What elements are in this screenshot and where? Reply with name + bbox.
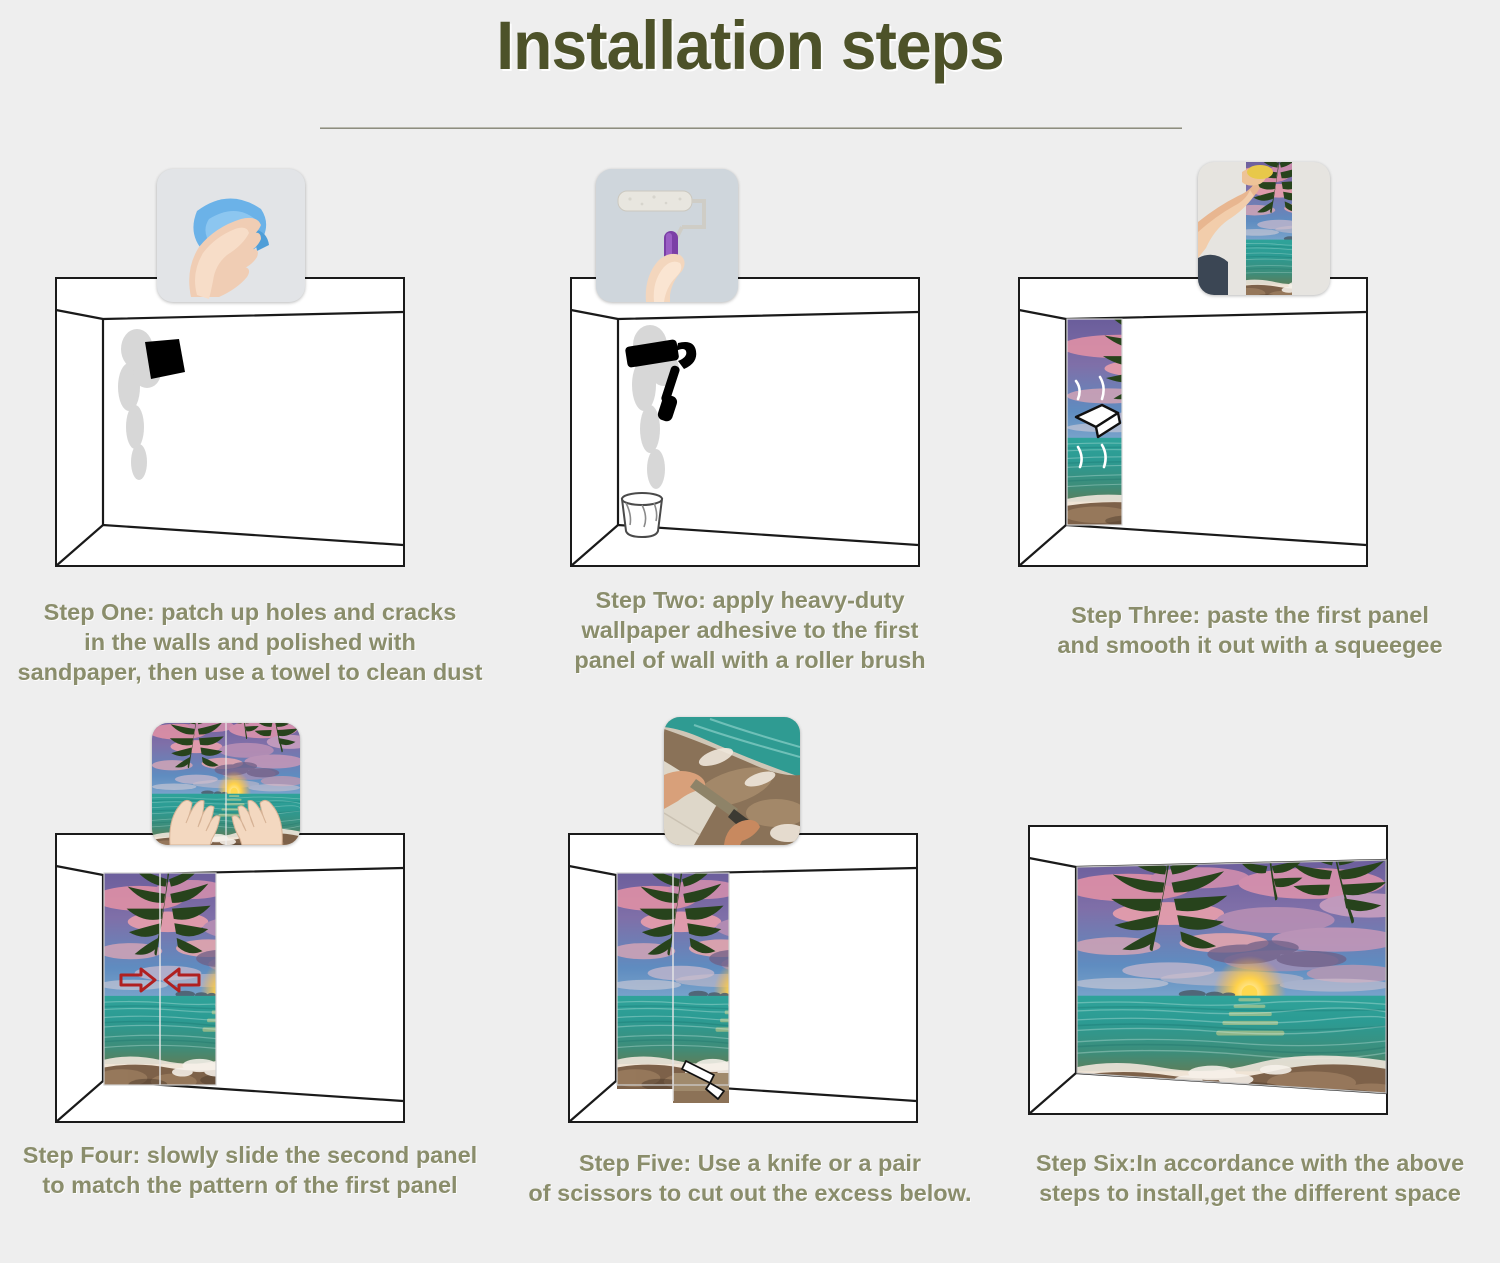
inset-photo-step-five <box>664 717 800 845</box>
step-six-caption: Step Six:In accordance with the above st… <box>996 1148 1500 1208</box>
step-four-caption: Step Four: slowly slide the second panel… <box>0 1140 500 1200</box>
inset-photo-step-two <box>596 169 738 302</box>
step-three-caption: Step Three: paste the first panel and sm… <box>1000 600 1500 660</box>
room-diagram-step-six <box>1028 825 1388 1125</box>
step-six-cell: Step Six:In accordance with the above st… <box>1000 705 1500 1260</box>
step-two-caption: Step Two: apply heavy-duty wallpaper adh… <box>500 585 1000 675</box>
page-title: Installation steps <box>53 8 1448 84</box>
inset-photo-step-one <box>157 169 305 302</box>
paint-bucket-icon <box>622 493 662 537</box>
inset-photo-step-three <box>1198 162 1330 295</box>
title-divider <box>320 127 1182 129</box>
room-diagram-step-four <box>55 833 405 1123</box>
step-five-cell: Step Five: Use a knife or a pair of scis… <box>500 705 1000 1260</box>
room-diagram-step-five <box>568 833 918 1133</box>
steps-grid: Step One: patch up holes and cracks in t… <box>0 150 1500 1260</box>
step-one-cell: Step One: patch up holes and cracks in t… <box>0 150 500 705</box>
room-diagram-step-one <box>55 277 405 567</box>
step-five-caption: Step Five: Use a knife or a pair of scis… <box>500 1148 1000 1208</box>
step-four-cell: Step Four: slowly slide the second panel… <box>0 705 500 1260</box>
steps-row-bottom: Step Four: slowly slide the second panel… <box>0 705 1500 1260</box>
step-one-caption: Step One: patch up holes and cracks in t… <box>0 597 500 687</box>
step-three-cell: Step Three: paste the first panel and sm… <box>1000 150 1500 705</box>
step-two-cell: Step Two: apply heavy-duty wallpaper adh… <box>500 150 1000 705</box>
room-diagram-step-three <box>1018 277 1368 567</box>
installation-steps-page: Installation steps <box>0 0 1500 1263</box>
sponge-icon <box>145 339 185 379</box>
mural-full-wall <box>1067 843 1418 1102</box>
room-diagram-step-two <box>570 277 920 567</box>
steps-row-top: Step One: patch up holes and cracks in t… <box>0 150 1500 705</box>
inset-photo-step-four <box>152 723 300 845</box>
